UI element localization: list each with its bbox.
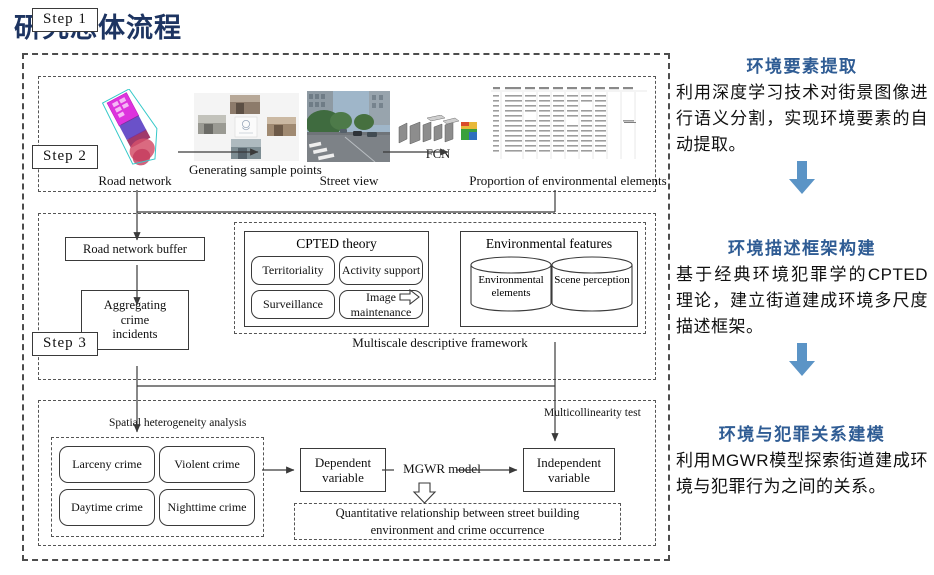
multiscale-framework-caption: Multiscale descriptive framework [294, 335, 586, 351]
cpted-item-territoriality: Territoriality [251, 256, 335, 285]
fcn-network-diagram-thumbnail [397, 115, 479, 147]
explanation-panel: 环境要素提取 利用深度学习技术对街景图像进行语义分割，实现环境要素的自动提取。 … [676, 52, 928, 567]
crime-type-daytime: Daytime crime [59, 489, 155, 526]
step2-label: Step 2 [32, 145, 98, 169]
quantitative-relationship-result: Quantitative relationship between street… [294, 503, 621, 540]
crime-type-nighttime: Nighttime crime [159, 489, 255, 526]
explanation-heading-1: 环境要素提取 [676, 52, 928, 77]
explanation-block-1: 环境要素提取 利用深度学习技术对街景图像进行语义分割，实现环境要素的自动提取。 [676, 52, 928, 197]
down-arrow-icon [787, 343, 817, 377]
cpted-theory-title: CPTED theory [245, 232, 428, 252]
dependent-variable-box: Dependent variable [300, 448, 386, 492]
explanation-block-2: 环境描述框架构建 基于经典环境犯罪学的CPTED理论，建立街道建成环境多尺度描述… [676, 234, 928, 379]
multicollinearity-test-label: Multicollinearity test [544, 407, 641, 419]
environmental-features-title: Environmental features [461, 232, 637, 252]
down-arrow-icon [787, 161, 817, 195]
cylinder-scene-perception-label: Scene perception [551, 274, 633, 287]
step1-band: Road network [38, 76, 656, 192]
explanation-body-2: 基于经典环境犯罪学的CPTED理论，建立街道建成环境多尺度描述框架。 [676, 262, 928, 339]
explanation-heading-3: 环境与犯罪关系建模 [676, 420, 928, 445]
proportion-elements-caption: Proportion of environmental elements [463, 173, 673, 189]
cpted-item-surveillance: Surveillance [251, 290, 335, 319]
environmental-elements-table-thumbnail [491, 85, 647, 165]
sample-points-caption: Generating sample points [189, 163, 305, 178]
road-network-map-thumbnail [99, 89, 171, 171]
cpted-item-image-maintenance: Image maintenance [339, 290, 423, 319]
step2-band: Road network buffer Aggregating crime in… [38, 213, 656, 380]
street-view-photo-thumbnail [307, 91, 390, 162]
cpted-item-activity-support: Activity support [339, 256, 423, 285]
road-network-buffer-box: Road network buffer [65, 237, 205, 261]
mgwr-model-label: MGWR model [397, 461, 487, 477]
explanation-heading-2: 环境描述框架构建 [676, 234, 928, 259]
step3-band: Spatial heterogeneity analysis Multicoll… [38, 400, 656, 546]
explanation-body-1: 利用深度学习技术对街景图像进行语义分割，实现环境要素的自动提取。 [676, 80, 928, 157]
sample-points-montage-thumbnail [194, 93, 299, 161]
diagram-root: 研究总体流程 [0, 0, 934, 575]
explanation-block-3: 环境与犯罪关系建模 利用MGWR模型探索街道建成环境与犯罪行为之间的关系。 [676, 420, 928, 500]
spatial-heterogeneity-label: Spatial heterogeneity analysis [109, 417, 246, 429]
independent-variable-box: Independent variable [523, 448, 615, 492]
fcn-caption: FCN [410, 147, 466, 162]
crime-type-violent: Violent crime [159, 446, 255, 483]
road-network-caption: Road network [67, 173, 203, 189]
crime-type-larceny: Larceny crime [59, 446, 155, 483]
cylinder-environmental-elements: Environmental elements [470, 256, 552, 312]
step3-label: Step 3 [32, 332, 98, 356]
step1-label: Step 1 [32, 8, 98, 32]
flowchart-container: Road network [22, 53, 670, 561]
cylinder-environmental-elements-label: Environmental elements [470, 274, 552, 299]
explanation-body-3: 利用MGWR模型探索街道建成环境与犯罪行为之间的关系。 [676, 448, 928, 500]
cylinder-scene-perception: Scene perception [551, 256, 633, 312]
street-view-caption: Street view [302, 173, 396, 189]
